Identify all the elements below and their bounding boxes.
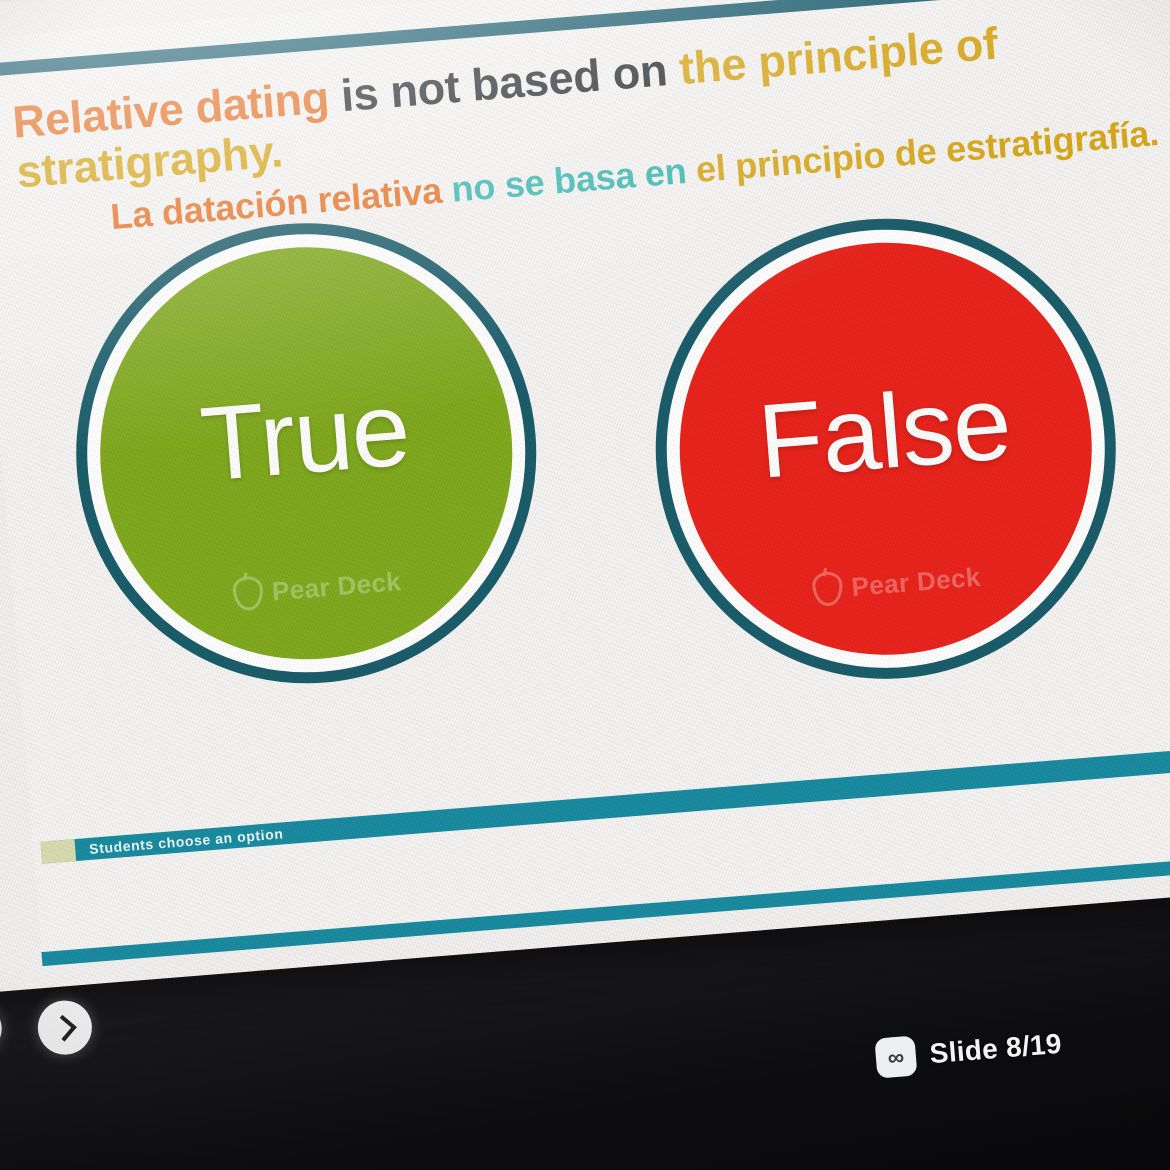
pear-deck-watermark-true: Pear Deck	[232, 564, 403, 611]
answer-choices: True Pear Deck False Pear Deck	[0, 126, 1170, 808]
watermark-text: Pear Deck	[271, 566, 402, 607]
answer-disc-true: True Pear Deck	[84, 231, 528, 675]
status-chip-icon	[41, 839, 77, 864]
answer-choice-false[interactable]: False Pear Deck	[638, 201, 1133, 696]
next-slide-button[interactable]	[36, 999, 94, 1057]
chevron-right-icon	[50, 1014, 77, 1041]
answer-disc-false: False Pear Deck	[664, 227, 1108, 671]
pear-icon	[811, 571, 844, 607]
pear-icon	[232, 575, 265, 611]
photo-scene: Relative dating is not based on the prin…	[0, 0, 1170, 1170]
prev-slide-button[interactable]	[0, 1002, 4, 1056]
watermark-text: Pear Deck	[850, 561, 981, 602]
infinity-icon: ∞	[874, 1036, 917, 1079]
screen-panel: Relative dating is not based on the prin…	[0, 0, 1170, 996]
status-bar-label: Students choose an option	[75, 825, 284, 858]
answer-label-false: False	[755, 369, 1014, 494]
slide-counter-label: Slide 8/19	[929, 1028, 1063, 1070]
slide-canvas: Relative dating is not based on the prin…	[0, 0, 1170, 966]
pear-deck-watermark-false: Pear Deck	[811, 560, 982, 607]
answer-choice-true[interactable]: True Pear Deck	[59, 206, 554, 701]
question-en-part2: is not based on	[327, 43, 682, 122]
slide-counter[interactable]: ∞ Slide 8/19	[874, 1024, 1063, 1079]
answer-label-true: True	[197, 376, 413, 497]
